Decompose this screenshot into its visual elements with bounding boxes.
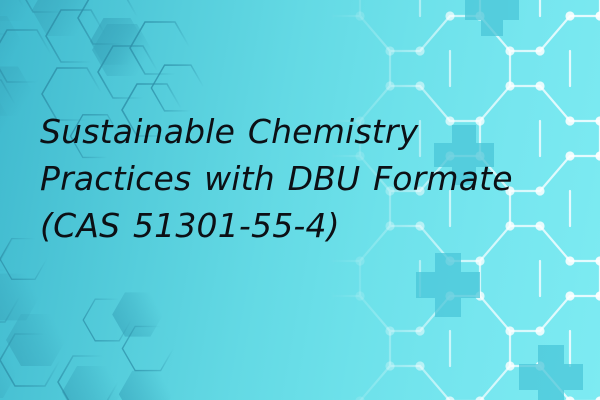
cross-icon [416, 253, 480, 317]
title-block: Sustainable Chemistry Practices with DBU… [40, 108, 570, 249]
article-banner-image: Sustainable Chemistry Practices with DBU… [0, 0, 600, 400]
page-title: Sustainable Chemistry Practices with DBU… [40, 108, 570, 249]
cross-icon [465, 0, 519, 36]
hexagon-fill-group-bottom [0, 274, 173, 400]
cross-icon [519, 345, 583, 400]
